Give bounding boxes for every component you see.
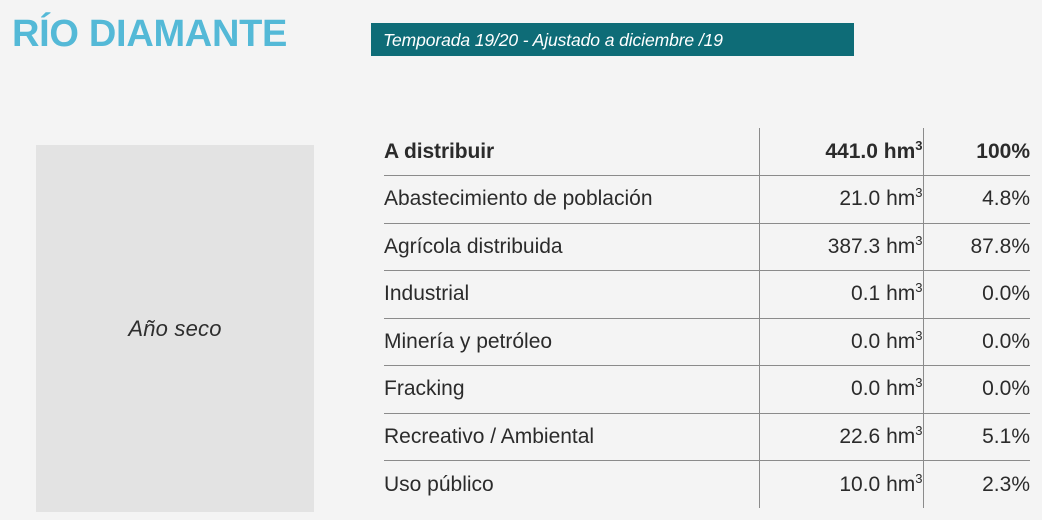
row-volume-value: 21.0 hm	[839, 187, 915, 210]
row-volume: 0.1 hm3	[759, 271, 923, 319]
table-row: Minería y petróleo 0.0 hm3 0.0%	[384, 318, 1030, 366]
header-row-share: 100%	[923, 128, 1030, 176]
row-label: Abastecimiento de población	[384, 176, 759, 224]
row-label: Recreativo / Ambiental	[384, 413, 759, 461]
row-share: 2.3%	[923, 461, 1030, 509]
row-label: Industrial	[384, 271, 759, 319]
season-banner: Temporada 19/20 - Ajustado a diciembre /…	[371, 23, 854, 56]
table-body: A distribuir 441.0 hm3 100% Abastecimien…	[384, 128, 1030, 508]
row-volume-exponent: 3	[915, 280, 922, 295]
table-row: Fracking 0.0 hm3 0.0%	[384, 366, 1030, 414]
header-row-volume-exponent: 3	[915, 138, 922, 153]
row-volume-value: 0.1 hm	[851, 282, 915, 305]
row-volume: 387.3 hm3	[759, 223, 923, 271]
row-volume-value: 10.0 hm	[839, 473, 915, 496]
row-volume-value: 0.0 hm	[851, 330, 915, 353]
row-volume-exponent: 3	[915, 233, 922, 248]
row-volume-exponent: 3	[915, 185, 922, 200]
row-label: Minería y petróleo	[384, 318, 759, 366]
water-allocation-table: A distribuir 441.0 hm3 100% Abastecimien…	[384, 128, 1030, 508]
row-volume: 21.0 hm3	[759, 176, 923, 224]
header-row-label: A distribuir	[384, 128, 759, 176]
row-label: Fracking	[384, 366, 759, 414]
row-share: 4.8%	[923, 176, 1030, 224]
row-volume-exponent: 3	[915, 423, 922, 438]
header-row-volume: 441.0 hm3	[759, 128, 923, 176]
row-volume-exponent: 3	[915, 471, 922, 486]
year-type-panel: Año seco	[36, 145, 314, 512]
header: RÍO DIAMANTE Temporada 19/20 - Ajustado …	[0, 0, 1042, 90]
row-volume-value: 22.6 hm	[839, 425, 915, 448]
row-volume-exponent: 3	[915, 375, 922, 390]
row-label: Agrícola distribuida	[384, 223, 759, 271]
row-volume: 0.0 hm3	[759, 366, 923, 414]
year-type-label: Año seco	[128, 316, 221, 342]
row-share: 0.0%	[923, 366, 1030, 414]
table-header-row: A distribuir 441.0 hm3 100%	[384, 128, 1030, 176]
row-share: 0.0%	[923, 318, 1030, 366]
row-volume: 22.6 hm3	[759, 413, 923, 461]
row-share: 0.0%	[923, 271, 1030, 319]
row-volume: 10.0 hm3	[759, 461, 923, 509]
row-volume: 0.0 hm3	[759, 318, 923, 366]
row-volume-value: 387.3 hm	[828, 235, 916, 258]
table-row: Agrícola distribuida 387.3 hm3 87.8%	[384, 223, 1030, 271]
row-label: Uso público	[384, 461, 759, 509]
row-share: 5.1%	[923, 413, 1030, 461]
row-volume-value: 0.0 hm	[851, 377, 915, 400]
page-title: RÍO DIAMANTE	[12, 12, 287, 56]
table-row: Abastecimiento de población 21.0 hm3 4.8…	[384, 176, 1030, 224]
season-banner-label: Temporada 19/20 - Ajustado a diciembre /…	[383, 30, 723, 50]
header-row-volume-value: 441.0 hm	[825, 140, 915, 163]
table-row: Recreativo / Ambiental 22.6 hm3 5.1%	[384, 413, 1030, 461]
row-share: 87.8%	[923, 223, 1030, 271]
row-volume-exponent: 3	[915, 328, 922, 343]
table-row: Industrial 0.1 hm3 0.0%	[384, 271, 1030, 319]
table-row: Uso público 10.0 hm3 2.3%	[384, 461, 1030, 509]
